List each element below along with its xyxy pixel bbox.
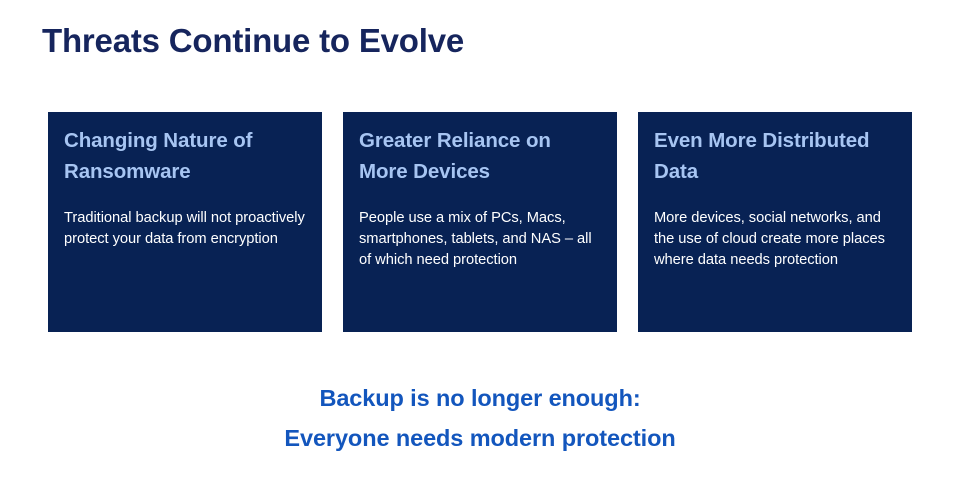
card-body: More devices, social networks, and the u… xyxy=(654,208,896,270)
threat-card-even-more-distributed-data: Even More Distributed Data More devices,… xyxy=(638,112,912,332)
card-heading: Changing Nature of Ransomware xyxy=(64,125,306,187)
closing-statement-line-1: Backup is no longer enough: xyxy=(0,378,960,418)
closing-statement: Backup is no longer enough: Everyone nee… xyxy=(0,378,960,459)
closing-statement-line-2: Everyone needs modern protection xyxy=(0,418,960,458)
threat-card-greater-reliance-on-more-devices: Greater Reliance on More Devices People … xyxy=(343,112,617,332)
card-heading: Greater Reliance on More Devices xyxy=(359,125,601,187)
card-body: Traditional backup will not proactively … xyxy=(64,208,306,249)
card-heading: Even More Distributed Data xyxy=(654,125,896,187)
card-body: People use a mix of PCs, Macs, smartphon… xyxy=(359,208,601,270)
page-title: Threats Continue to Evolve xyxy=(42,22,464,60)
threat-cards-row: Changing Nature of Ransomware Traditiona… xyxy=(48,112,912,332)
slide-canvas: Threats Continue to Evolve Changing Natu… xyxy=(0,0,960,494)
threat-card-changing-nature-of-ransomware: Changing Nature of Ransomware Traditiona… xyxy=(48,112,322,332)
